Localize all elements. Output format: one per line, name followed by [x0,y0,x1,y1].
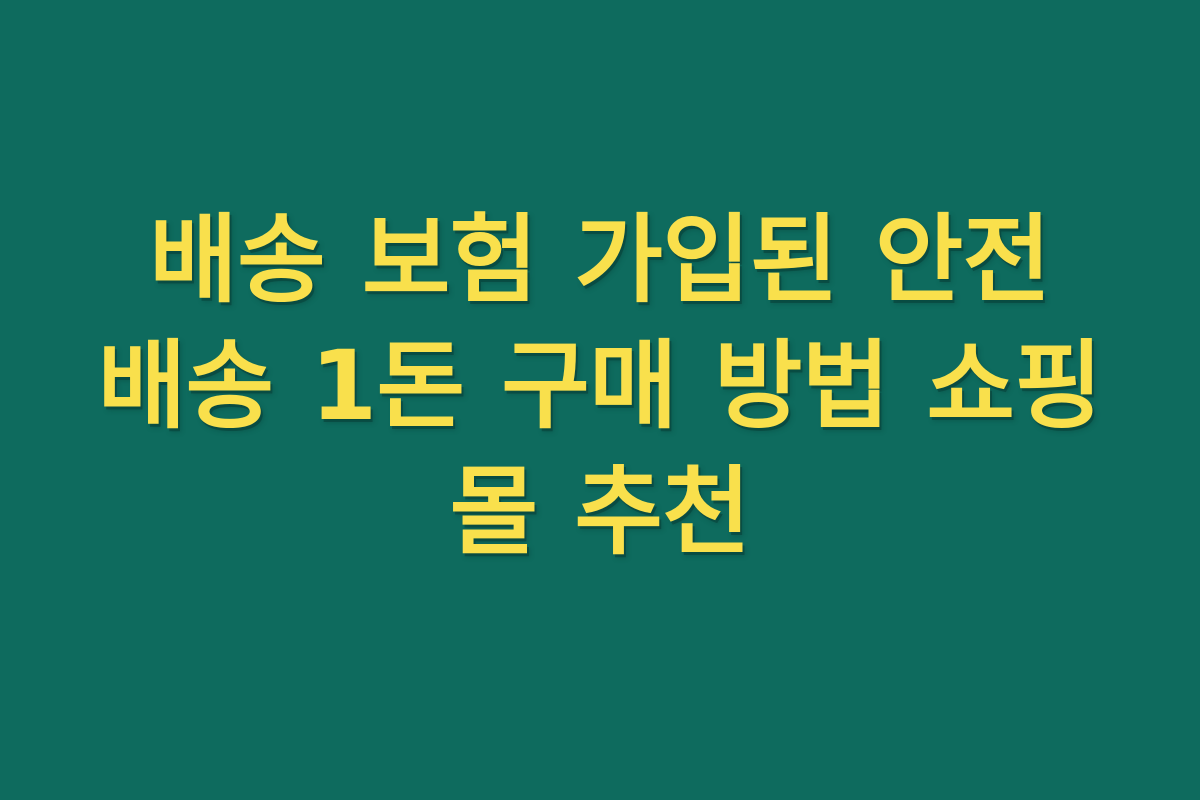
banner-headline: 배송 보험 가입된 안전 배송 1돈 구매 방법 쇼핑 몰 추천 [70,197,1130,575]
banner-canvas: 배송 보험 가입된 안전 배송 1돈 구매 방법 쇼핑 몰 추천 [0,0,1200,800]
headline-line-3: 몰 추천 [70,449,1130,575]
headline-line-1: 배송 보험 가입된 안전 [70,197,1130,323]
headline-line-2: 배송 1돈 구매 방법 쇼핑 [70,323,1130,449]
headline-block: 배송 보험 가입된 안전 배송 1돈 구매 방법 쇼핑 몰 추천 [70,197,1130,575]
